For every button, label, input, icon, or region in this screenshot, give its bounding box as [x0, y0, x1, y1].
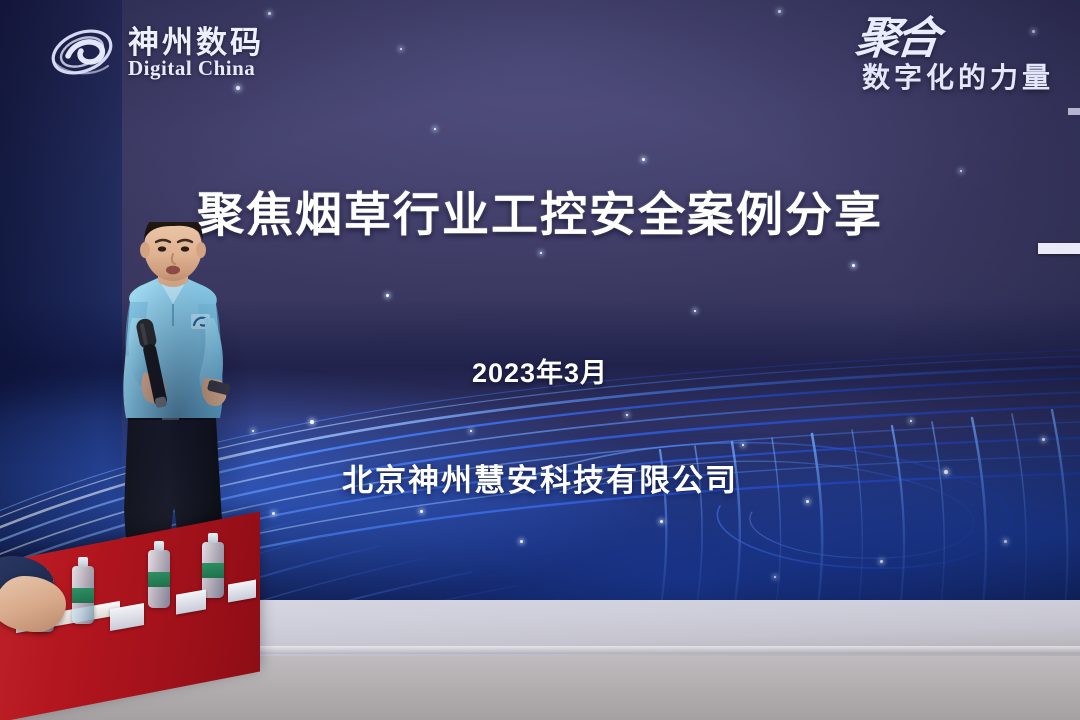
water-bottle — [72, 566, 94, 624]
logo-text-block: 神州数码 Digital China — [128, 27, 264, 79]
event-slogan: 聚合 数字化的力量 — [856, 18, 1054, 96]
logo-english-name: Digital China — [128, 56, 255, 80]
logo-chinese-name: 神州数码 — [128, 25, 264, 60]
slogan-calligraphy: 聚合 — [854, 18, 938, 60]
screen-edge-highlight-small — [1068, 108, 1080, 115]
water-bottle — [148, 550, 170, 608]
spiral-swirl-icon — [48, 22, 118, 84]
conference-photo: 神州数码 Digital China 聚合 数字化的力量 聚焦烟草行业工控安全案… — [0, 0, 1080, 720]
digital-china-logo: 神州数码 Digital China — [48, 22, 264, 84]
